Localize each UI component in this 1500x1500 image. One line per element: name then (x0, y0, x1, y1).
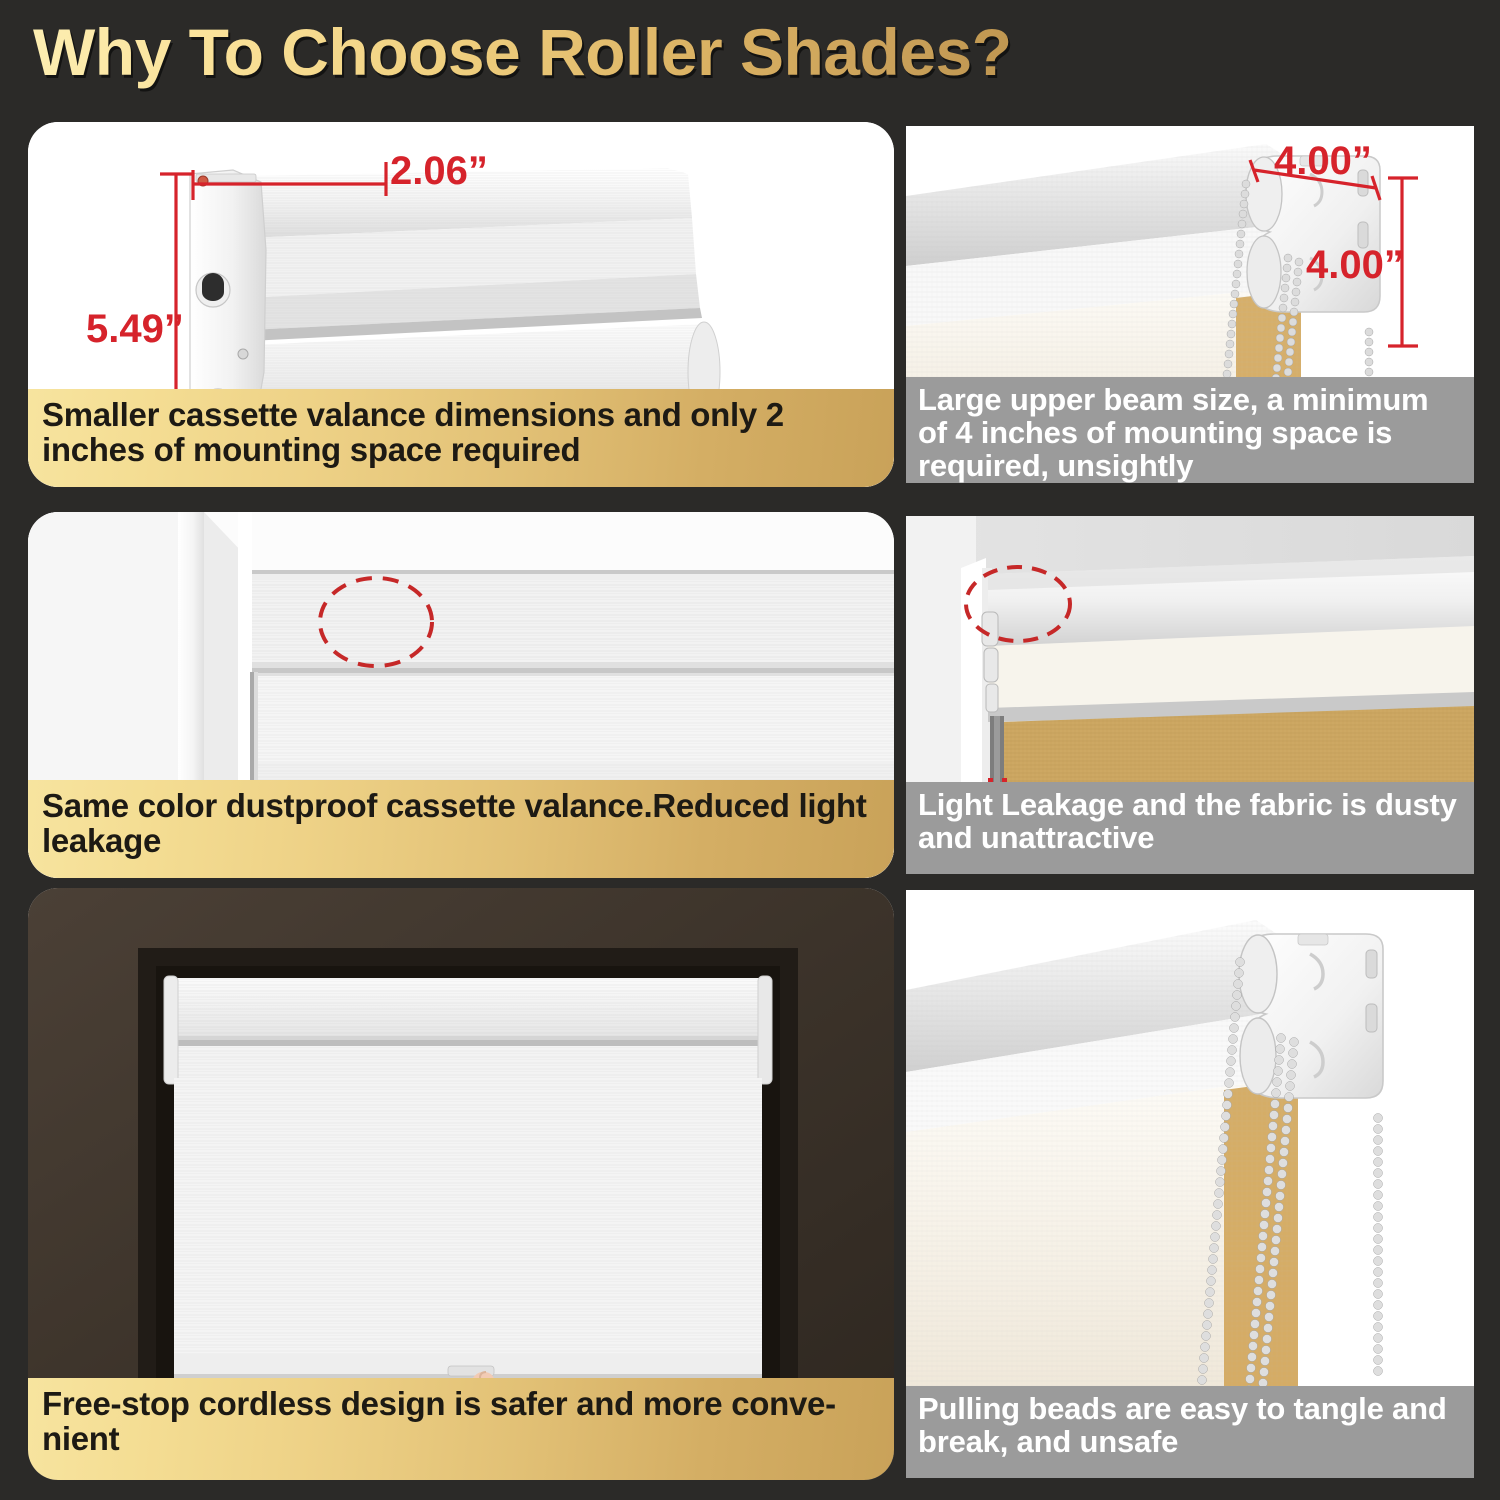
panel-3: smaller gap Same color dustproof cassett… (28, 512, 894, 878)
width-dimension-label: 2.06” (390, 149, 488, 193)
height-dimension-label: 5.49” (86, 307, 184, 351)
roller-bracket (1239, 934, 1383, 1098)
panel-6: Pulling beads are easy to tangle and bre… (906, 890, 1474, 1478)
panel-3-caption: Same color dustproof cassette valance.Re… (28, 780, 894, 878)
height-dimension-label: 4.00” (1306, 243, 1404, 287)
panel-2: 4.00” 4.00” Large upper beam size, a min… (906, 126, 1474, 483)
panel-5: Free-stop cordless design is safer and m… (28, 888, 894, 1480)
panel-5-caption: Free-stop cordless design is safer and m… (28, 1378, 894, 1480)
panel-4-caption: Light Leakage and the fabric is dusty an… (906, 782, 1474, 874)
page-title: Why To Choose Roller Shades? (33, 14, 1012, 90)
title-bar: Why To Choose Roller Shades? (0, 0, 1500, 112)
panel-1: 5.49” 2.06” Smaller cassette valance dim… (28, 122, 894, 487)
panel-6-caption: Pulling beads are easy to tangle and bre… (906, 1386, 1474, 1478)
width-dimension-label: 4.00” (1274, 139, 1372, 183)
panel-1-caption: Smaller cassette valance dimensions and … (28, 389, 894, 487)
panel-4: Large gap Light Leakage and the fabric i… (906, 516, 1474, 874)
panel-2-caption: Large upper beam size, a minimum of 4 in… (906, 377, 1474, 483)
